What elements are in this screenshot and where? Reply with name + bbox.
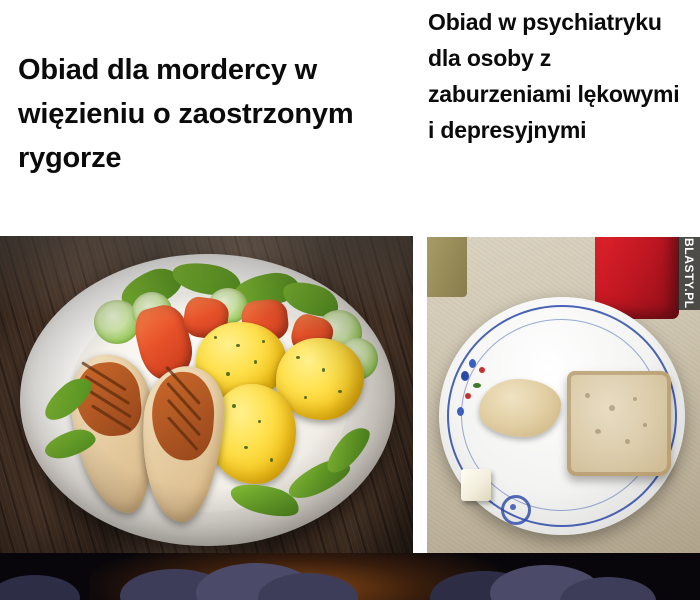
photo-psychiatric-meal: BLASTY.PL: [427, 237, 700, 553]
white-plate-right: [439, 297, 685, 535]
photo-prison-meal: [0, 236, 413, 553]
photo-vignette: [0, 236, 413, 553]
bread-crumb-hole: [625, 439, 630, 444]
watermark-blasty: BLASTY.PL: [678, 237, 700, 310]
glass-jar: [427, 237, 467, 297]
floral-decoration: [473, 383, 481, 388]
meme-image: Obiad dla mordercy w więzieniu o zaostrz…: [0, 0, 700, 600]
floral-decoration: [461, 371, 469, 381]
caption-right: Obiad w psychiatryku dla osoby z zaburze…: [428, 4, 690, 148]
floral-decoration: [479, 367, 485, 373]
floral-decoration: [457, 407, 464, 416]
caption-left: Obiad dla mordercy w więzieniu o zaostrz…: [18, 48, 398, 180]
bread-slice: [567, 371, 671, 476]
plate-maker-stamp: [501, 495, 531, 525]
bread-crumb-hole: [643, 423, 647, 427]
butter-cube: [461, 469, 491, 501]
bread-crumb-hole: [585, 393, 590, 398]
bread-crumb-hole: [609, 405, 615, 411]
footer-bar: blasty pl: [0, 553, 700, 600]
footer-cloud: [0, 575, 80, 600]
pate-spread: [479, 379, 561, 437]
floral-decoration: [469, 359, 476, 368]
floral-decoration: [465, 393, 471, 399]
bread-crumb-hole: [633, 397, 637, 401]
bread-crumb-hole: [595, 429, 601, 434]
watermark-label: BLASTY.PL: [682, 238, 696, 309]
